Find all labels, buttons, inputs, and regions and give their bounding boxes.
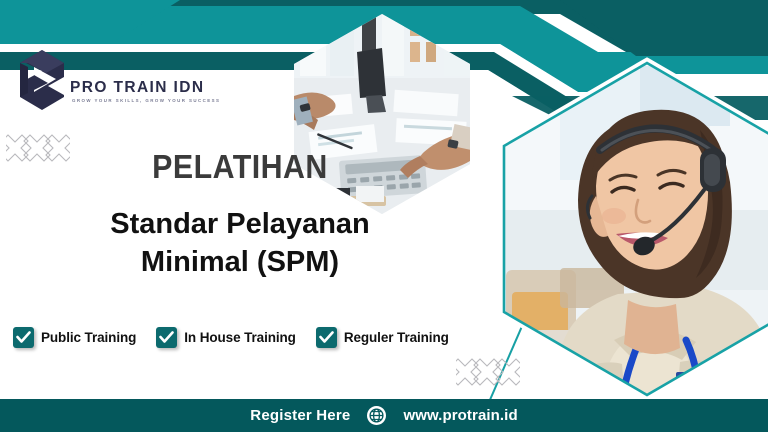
training-option-public[interactable]: Public Training	[13, 327, 136, 348]
checkmark-icon	[159, 331, 174, 344]
register-here-label[interactable]: Register Here	[250, 407, 350, 424]
x-pattern-decoration-right	[456, 357, 520, 391]
checkbox-in-house-training[interactable]	[156, 327, 177, 348]
training-option-in-house[interactable]: In House Training	[156, 327, 296, 348]
checkmark-icon	[319, 331, 334, 344]
training-options-row: Public Training In House Training Regule…	[13, 327, 449, 348]
training-option-label: Reguler Training	[344, 330, 449, 345]
globe-icon	[367, 406, 386, 425]
page-title-line2: Minimal (SPM)	[0, 243, 480, 281]
brand-logo[interactable]: PRO TRAIN IDN GROW YOUR SKILLS, GROW YOU…	[10, 47, 190, 123]
training-option-label: Public Training	[41, 330, 136, 345]
protrain-hexagon-arrow-logo-icon	[12, 47, 70, 113]
training-option-reguler[interactable]: Reguler Training	[316, 327, 449, 348]
page-title-line1: Standar Pelayanan	[0, 205, 480, 243]
website-url[interactable]: www.protrain.id	[403, 407, 517, 424]
page-title: Standar Pelayanan Minimal (SPM)	[0, 205, 480, 282]
checkmark-icon	[16, 331, 31, 344]
brand-tagline: GROW YOUR SKILLS, GROW YOUR SUCCESS	[72, 99, 220, 103]
poster-canvas: PRO TRAIN IDN GROW YOUR SKILLS, GROW YOU…	[0, 0, 768, 432]
checkbox-public-training[interactable]	[13, 327, 34, 348]
footer-bar: Register Here www.protrain.id	[0, 399, 768, 432]
training-option-label: In House Training	[184, 330, 296, 345]
page-eyebrow: PELATIHAN	[19, 150, 461, 183]
brand-name: PRO TRAIN IDN	[70, 80, 204, 96]
checkbox-reguler-training[interactable]	[316, 327, 337, 348]
